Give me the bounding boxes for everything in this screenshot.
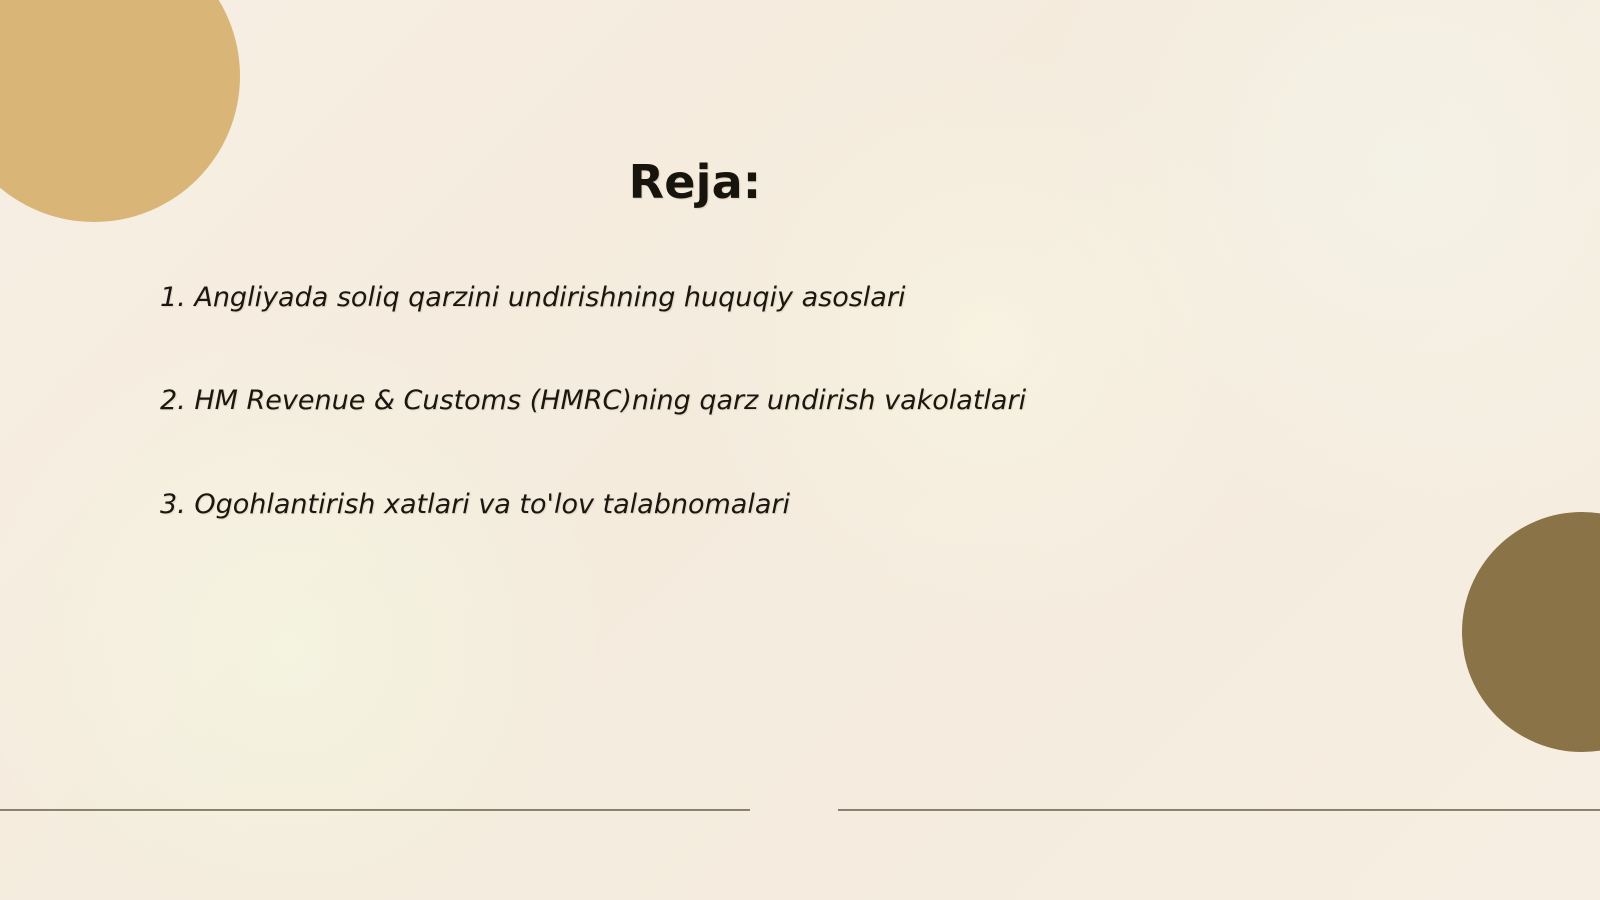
page-title: Reja:	[629, 157, 762, 208]
agenda-list: 1. Angliyada soliq qarzini undirishning …	[160, 282, 1400, 521]
footer-divider-right	[838, 809, 1600, 811]
list-item: 3. Ogohlantirish xatlari va to'lov talab…	[160, 489, 1400, 521]
list-item: 2. HM Revenue & Customs (HMRC)ning qarz …	[160, 385, 1400, 417]
presentation-slide: Reja: 1. Angliyada soliq qarzini undiris…	[0, 0, 1600, 900]
list-item: 1. Angliyada soliq qarzini undirishning …	[160, 282, 1400, 314]
slide-title-container: Reja:	[0, 126, 1390, 238]
decorative-circle-right-icon	[1462, 512, 1600, 752]
footer-divider-left	[0, 809, 750, 811]
